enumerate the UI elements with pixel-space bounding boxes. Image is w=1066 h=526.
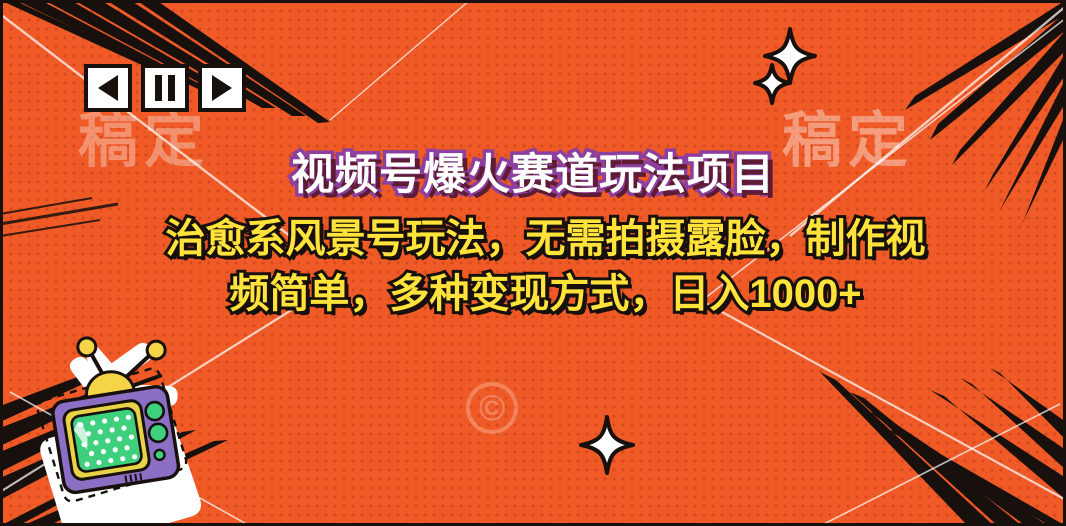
copyright-icon: ©	[466, 382, 518, 434]
previous-button[interactable]	[84, 64, 132, 112]
sparkle-bottom-center	[578, 414, 636, 476]
page-title: 视频号爆火赛道玩法项目	[0, 140, 1066, 202]
sparkle-small-top-right	[752, 62, 792, 106]
subtitle-line-1: 治愈系风景号玩法，无需拍摄露脸，制作视	[60, 212, 1031, 267]
play-button[interactable]	[198, 64, 246, 112]
pause-button[interactable]	[141, 64, 189, 112]
promo-poster: 稿定 稿定 © 视频号爆火赛道玩法项目 治愈系风景号玩法，无需拍摄露脸，制作视 …	[0, 0, 1066, 526]
sparkle-large-top-right	[762, 26, 818, 86]
media-controls	[84, 64, 246, 112]
triangle-left-icon	[98, 75, 118, 101]
pause-bars-icon	[155, 75, 175, 101]
subtitle-copy: 治愈系风景号玩法，无需拍摄露脸，制作视 频简单，多种变现方式，日入1000+	[60, 212, 1031, 322]
retro-tv-sticker	[18, 332, 208, 526]
subtitle-line-2: 频简单，多种变现方式，日入1000+	[60, 267, 1031, 322]
triangle-right-icon	[212, 75, 232, 101]
